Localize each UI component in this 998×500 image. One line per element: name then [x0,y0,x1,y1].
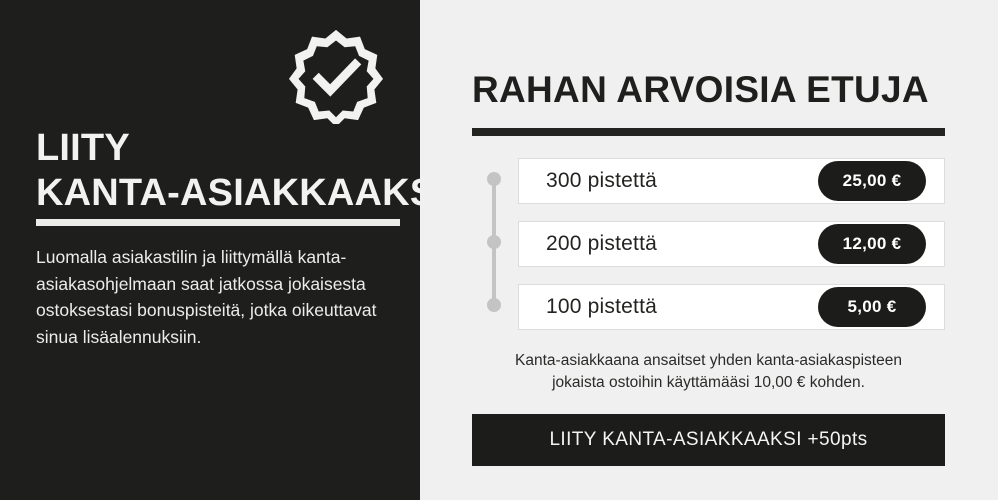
tier-points-label: 100 pistettä [546,295,657,319]
tier-value-badge: 5,00 € [818,287,926,327]
loyalty-program-banner: LIITY KANTA-ASIAKKAAKSI Luomalla asiakas… [0,0,998,500]
tier-points-label: 200 pistettä [546,232,657,256]
tier-row[interactable]: 300 pistettä 25,00 € [518,158,945,204]
verified-badge-check-icon [288,28,384,124]
tier-value-badge: 25,00 € [818,161,926,201]
rewards-tier-list: 300 pistettä 25,00 € 200 pistettä 12,00 … [472,158,945,333]
right-panel: RAHAN ARVOISIA ETUJA 300 pistettä 25,00 … [420,0,998,500]
tier-timeline [487,172,501,312]
left-panel: LIITY KANTA-ASIAKKAAKSI Luomalla asiakas… [0,0,420,500]
timeline-dot-3 [487,298,501,312]
left-body-text: Luomalla asiakastilin ja liittymällä kan… [36,244,398,350]
earning-rate-note-line-1: Kanta-asiakkaana ansaitset yhden kanta-a… [472,350,945,372]
tier-row[interactable]: 100 pistettä 5,00 € [518,284,945,330]
timeline-dot-2 [487,235,501,249]
tier-points-label: 300 pistettä [546,169,657,193]
right-heading-divider [472,128,945,136]
tier-row[interactable]: 200 pistettä 12,00 € [518,221,945,267]
left-heading: LIITY KANTA-ASIAKKAAKSI [36,126,406,216]
tier-rows: 300 pistettä 25,00 € 200 pistettä 12,00 … [518,158,945,330]
join-loyalty-program-button[interactable]: LIITY KANTA-ASIAKKAAKSI +50pts [472,414,945,466]
earning-rate-note-line-2: jokaista ostoihin käyttämääsi 10,00 € ko… [472,372,945,394]
left-heading-line-2: KANTA-ASIAKKAAKSI [36,171,406,216]
tier-value-badge: 12,00 € [818,224,926,264]
left-heading-line-1: LIITY [36,126,406,171]
earning-rate-note: Kanta-asiakkaana ansaitset yhden kanta-a… [472,350,945,394]
left-heading-divider [36,219,400,226]
timeline-dot-1 [487,172,501,186]
right-heading: RAHAN ARVOISIA ETUJA [472,68,929,112]
